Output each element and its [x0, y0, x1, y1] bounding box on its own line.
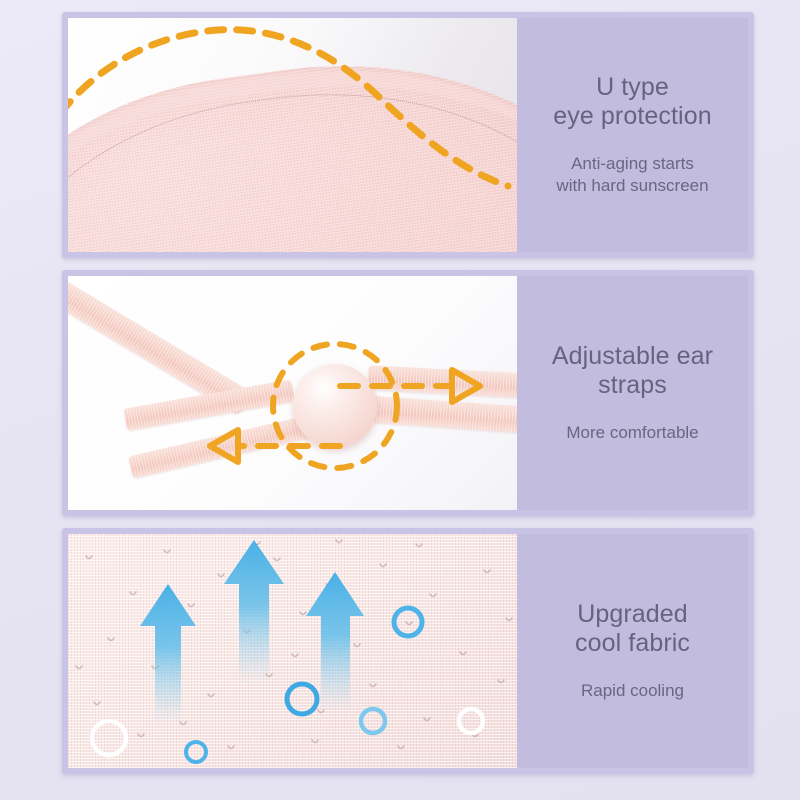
product-photo-eye-mask-edge: [68, 18, 517, 252]
card-text-panel: U type eye protection Anti-aging starts …: [517, 18, 748, 252]
adjustment-annotation-group: [68, 276, 517, 510]
breathability-circle-blue-small: [186, 742, 206, 762]
airflow-arrow-left-icon: [140, 584, 196, 724]
card-text-panel: Adjustable ear straps More comfortable: [517, 276, 748, 510]
orange-dashed-circle: [273, 344, 397, 468]
card-headline: Adjustable ear straps: [552, 342, 713, 400]
u-shape-dashed-outline-annotation: [68, 18, 517, 252]
product-photo-cool-fabric: [68, 534, 517, 768]
feature-card-adjustable-ear-straps[interactable]: Adjustable ear straps More comfortable: [62, 270, 754, 516]
breathability-circle-blue-soft: [361, 709, 385, 733]
card-subline: More comfortable: [566, 422, 698, 444]
card-inner: U type eye protection Anti-aging starts …: [68, 18, 748, 252]
orange-dashed-curve: [68, 30, 508, 186]
card-subline: Anti-aging starts with hard sunscreen: [556, 153, 708, 197]
arrow-left-head-icon: [210, 430, 238, 462]
arrow-right-head-icon: [452, 370, 480, 402]
breathability-circle-blue-upper: [394, 608, 422, 636]
breathability-circle-blue-medium: [287, 684, 317, 714]
card-headline: U type eye protection: [553, 73, 711, 131]
breathability-circle-white-small: [459, 709, 483, 733]
card-inner: Adjustable ear straps More comfortable: [68, 276, 748, 510]
card-text-panel: Upgraded cool fabric Rapid cooling: [517, 534, 748, 768]
product-feature-page: U type eye protection Anti-aging starts …: [0, 0, 800, 800]
card-headline: Upgraded cool fabric: [575, 600, 690, 658]
feature-card-u-type-eye-protection[interactable]: U type eye protection Anti-aging starts …: [62, 12, 754, 258]
product-photo-ear-strap-bead: [68, 276, 517, 510]
airflow-arrow-center-icon: [224, 540, 284, 684]
card-inner: Upgraded cool fabric Rapid cooling: [68, 534, 748, 768]
feature-card-upgraded-cool-fabric[interactable]: Upgraded cool fabric Rapid cooling: [62, 528, 754, 774]
breathability-circle-white-large: [92, 721, 126, 755]
airflow-annotation-group: [68, 534, 517, 768]
card-subline: Rapid cooling: [581, 680, 684, 702]
